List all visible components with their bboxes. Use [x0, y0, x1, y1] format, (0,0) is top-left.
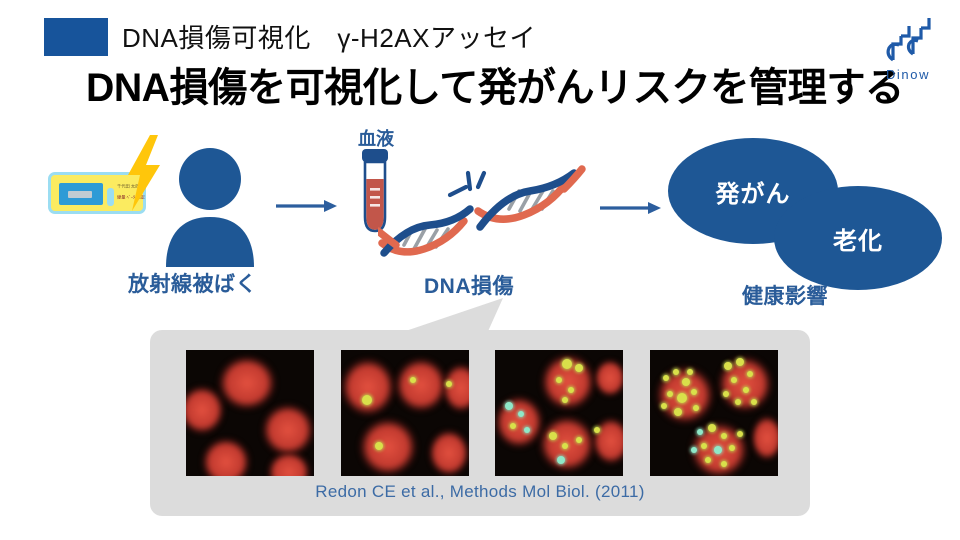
cell-nucleus — [427, 428, 469, 476]
micrograph-image-2 — [341, 350, 469, 476]
cell-nucleus — [341, 356, 397, 418]
gamma-h2ax-focus — [663, 375, 669, 381]
slide-canvas: DNA損傷可視化 γ-H2AXアッセイ DNA損傷を可視化して発がんリスクを管理… — [0, 0, 960, 540]
cell-nucleus — [357, 416, 419, 476]
header-accent-square — [44, 18, 108, 56]
flow-label-health-effects: 健康影響 — [742, 280, 828, 310]
flow-label-exposure: 放射線被ばく — [128, 268, 257, 298]
gamma-h2ax-focus — [723, 391, 729, 397]
gamma-h2ax-focus — [743, 387, 749, 393]
micrograph-row — [186, 350, 778, 476]
gamma-h2ax-focus — [721, 461, 727, 467]
gamma-h2ax-focus — [673, 369, 679, 375]
gamma-h2ax-focus — [714, 446, 722, 454]
flow-label-blood: 血液 — [358, 125, 394, 151]
gamma-h2ax-focus — [737, 431, 743, 437]
gamma-h2ax-focus — [362, 395, 372, 405]
cell-nucleus — [591, 416, 623, 466]
logo-wordmark: Dinow — [870, 67, 946, 82]
gamma-h2ax-focus — [691, 389, 697, 395]
gamma-h2ax-focus — [729, 445, 735, 451]
gamma-h2ax-focus — [410, 377, 416, 383]
gamma-h2ax-focus — [697, 429, 703, 435]
cell-nucleus — [750, 414, 778, 462]
gamma-h2ax-focus — [724, 362, 732, 370]
gamma-h2ax-focus — [751, 399, 757, 405]
dosimeter-window — [59, 183, 103, 205]
gamma-h2ax-focus — [677, 393, 687, 403]
micrograph-caption: Redon CE et al., Methods Mol Biol. (2011… — [150, 482, 810, 502]
gamma-h2ax-focus — [682, 378, 690, 386]
gamma-h2ax-focus — [736, 358, 744, 366]
dosimeter-window-strip — [68, 191, 92, 198]
micrograph-image-3 — [495, 350, 623, 476]
gamma-h2ax-focus — [687, 369, 693, 375]
micrograph-panel: Redon CE et al., Methods Mol Biol. (2011… — [150, 330, 810, 516]
gamma-h2ax-focus — [731, 377, 737, 383]
slide-subtitle: DNA損傷可視化 γ-H2AXアッセイ — [122, 19, 536, 57]
micrograph-image-1 — [186, 350, 314, 476]
gamma-h2ax-focus — [667, 391, 673, 397]
dinow-mark-icon — [883, 14, 933, 66]
gamma-h2ax-focus — [446, 381, 452, 387]
gamma-h2ax-focus — [693, 405, 699, 411]
gamma-h2ax-focus — [721, 433, 727, 439]
gamma-h2ax-focus — [708, 424, 716, 432]
flow-label-dna-damage: DNA損傷 — [424, 270, 514, 300]
brand-logo[interactable]: Dinow — [870, 14, 946, 86]
gamma-h2ax-focus — [747, 371, 753, 377]
gamma-h2ax-focus — [701, 443, 707, 449]
health-bubble-aging: 老化 — [774, 186, 942, 290]
gamma-h2ax-focus — [661, 403, 667, 409]
gamma-h2ax-focus — [691, 447, 697, 453]
cell-nucleus — [593, 358, 623, 398]
gamma-h2ax-focus — [735, 399, 741, 405]
dosimeter-clip — [107, 188, 114, 206]
gamma-h2ax-focus — [705, 457, 711, 463]
slide-headline: DNA損傷を可視化して発がんリスクを管理する — [86, 63, 904, 113]
gamma-h2ax-focus — [375, 442, 383, 450]
cell-nucleus — [200, 436, 252, 476]
person-icon — [158, 145, 262, 267]
flow-arrow-1-icon — [276, 198, 338, 214]
gamma-h2ax-focus — [674, 408, 682, 416]
flow-arrow-2-icon — [600, 200, 662, 216]
broken-dna-icon — [378, 153, 588, 271]
micrograph-image-4 — [650, 350, 778, 476]
